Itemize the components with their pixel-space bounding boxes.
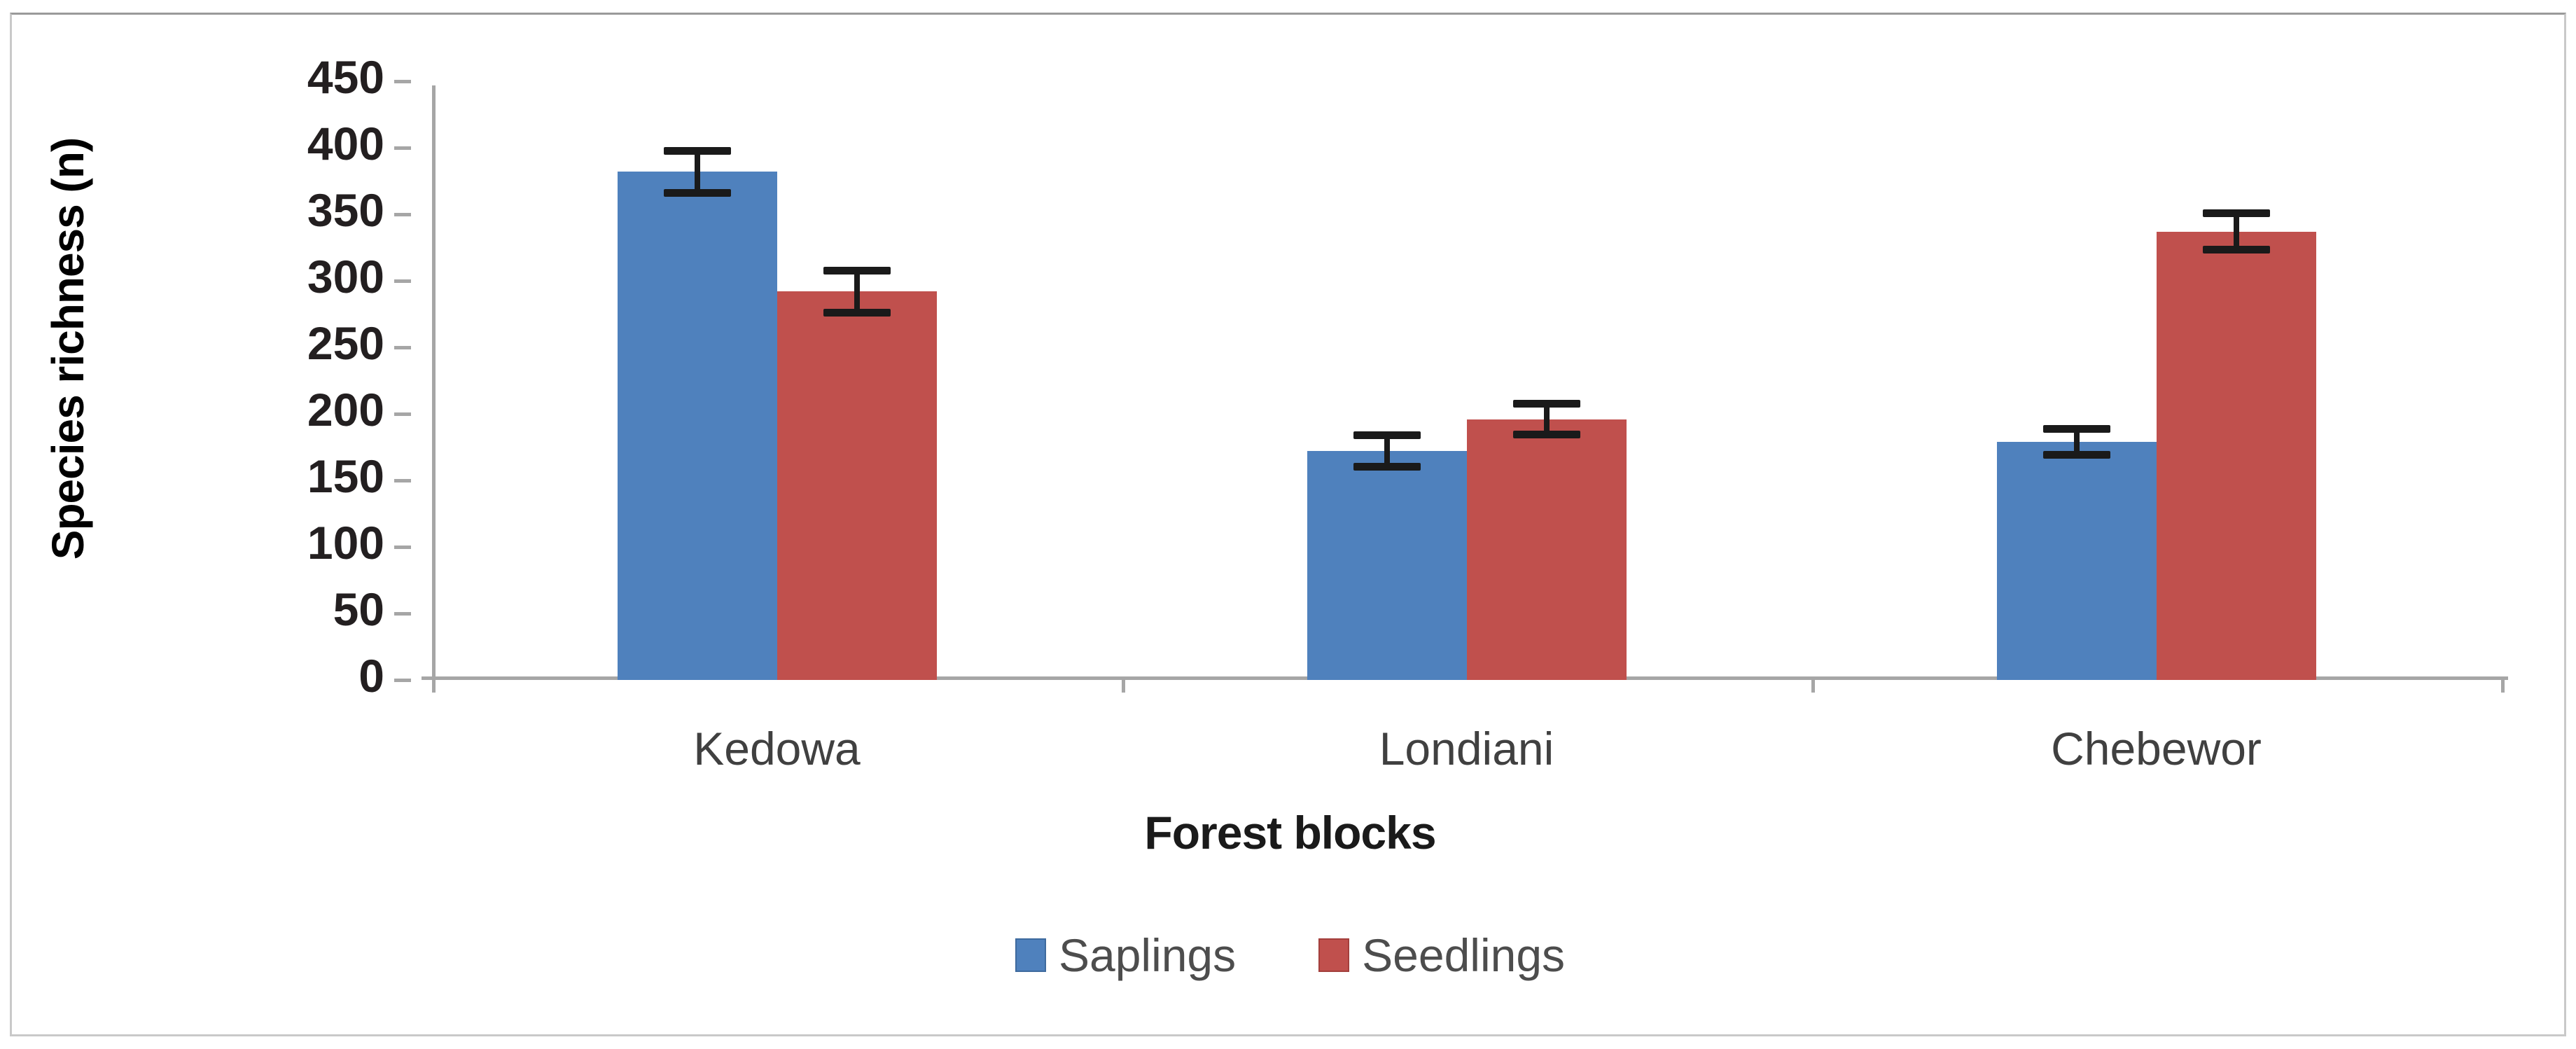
legend-label: Seedlings	[1362, 929, 1565, 982]
chart-figure: Species richness (n) 4504003503002502001…	[0, 0, 2576, 1049]
y-axis-tick-mark	[394, 479, 411, 482]
y-axis-tick-label: 450	[307, 50, 384, 104]
bar-seedlings[interactable]	[2157, 232, 2316, 680]
y-axis-tick-label: 50	[333, 583, 384, 636]
y-axis-tick-mark	[394, 279, 411, 283]
error-bar-cap-top	[1513, 400, 1580, 408]
y-axis-tick-mark	[394, 546, 411, 549]
x-axis-title: Forest blocks	[12, 806, 2568, 859]
x-axis-category-label: Londiani	[1122, 722, 1811, 775]
x-axis-separator	[1122, 677, 1125, 693]
y-axis-tick-label: 300	[307, 250, 384, 303]
y-axis-title: Species richness (n)	[42, 62, 94, 636]
x-axis-category-label: Kedowa	[432, 722, 1122, 775]
legend-swatch-seedlings	[1318, 938, 1349, 972]
y-axis-tick-mark	[394, 213, 411, 216]
x-axis-separator	[1811, 677, 1815, 693]
error-bar-cap-bottom	[2203, 246, 2270, 253]
error-bar-cap-top	[1353, 431, 1421, 439]
y-axis-tick-mark	[394, 612, 411, 616]
error-bar-cap-top	[664, 147, 731, 155]
y-axis-tick-label: 250	[307, 317, 384, 370]
legend-swatch-saplings	[1015, 938, 1046, 972]
error-bar-cap-top	[2043, 425, 2110, 433]
bar-seedlings[interactable]	[777, 291, 937, 680]
y-axis-tick-mark	[394, 412, 411, 416]
x-axis-category-label: Chebewor	[1811, 722, 2501, 775]
y-axis-tick-label: 0	[358, 649, 384, 702]
chart-legend: SaplingsSeedlings	[12, 929, 2568, 982]
bar-saplings[interactable]	[618, 172, 777, 680]
y-axis-spine	[432, 85, 436, 684]
plot-area: 450400350300250200150100500	[432, 81, 2501, 680]
y-axis-tick-mark	[394, 679, 411, 682]
error-bar-cap-top	[2203, 209, 2270, 217]
bar-seedlings[interactable]	[1467, 419, 1627, 680]
x-axis-separator	[2501, 677, 2505, 693]
legend-label: Saplings	[1059, 929, 1236, 982]
y-axis-tick-label: 350	[307, 183, 384, 237]
y-axis-tick-mark	[394, 346, 411, 349]
error-bar-cap-bottom	[1353, 463, 1421, 471]
y-axis-tick-mark	[394, 80, 411, 83]
bar-saplings[interactable]	[1307, 451, 1467, 680]
chart-frame: Species richness (n) 4504003503002502001…	[10, 13, 2566, 1036]
y-axis-tick-label: 400	[307, 117, 384, 170]
error-bar-line	[2234, 213, 2239, 250]
legend-item[interactable]: Seedlings	[1318, 929, 1565, 982]
y-axis-tick-label: 100	[307, 516, 384, 569]
error-bar-cap-top	[823, 267, 891, 275]
y-axis-tick-mark	[394, 146, 411, 150]
bar-group	[1997, 81, 2316, 680]
error-bar-cap-bottom	[823, 309, 891, 317]
y-axis-tick-label: 150	[307, 450, 384, 503]
legend-item[interactable]: Saplings	[1015, 929, 1236, 982]
error-bar-line	[854, 270, 860, 313]
y-axis-tick-label: 200	[307, 383, 384, 436]
bar-saplings[interactable]	[1997, 442, 2157, 680]
error-bar-line	[695, 151, 700, 193]
error-bar-cap-bottom	[2043, 451, 2110, 459]
error-bar-cap-bottom	[664, 189, 731, 197]
error-bar-cap-bottom	[1513, 431, 1580, 438]
bar-group	[1307, 81, 1627, 680]
bar-group	[618, 81, 937, 680]
x-axis-separator	[432, 677, 436, 693]
